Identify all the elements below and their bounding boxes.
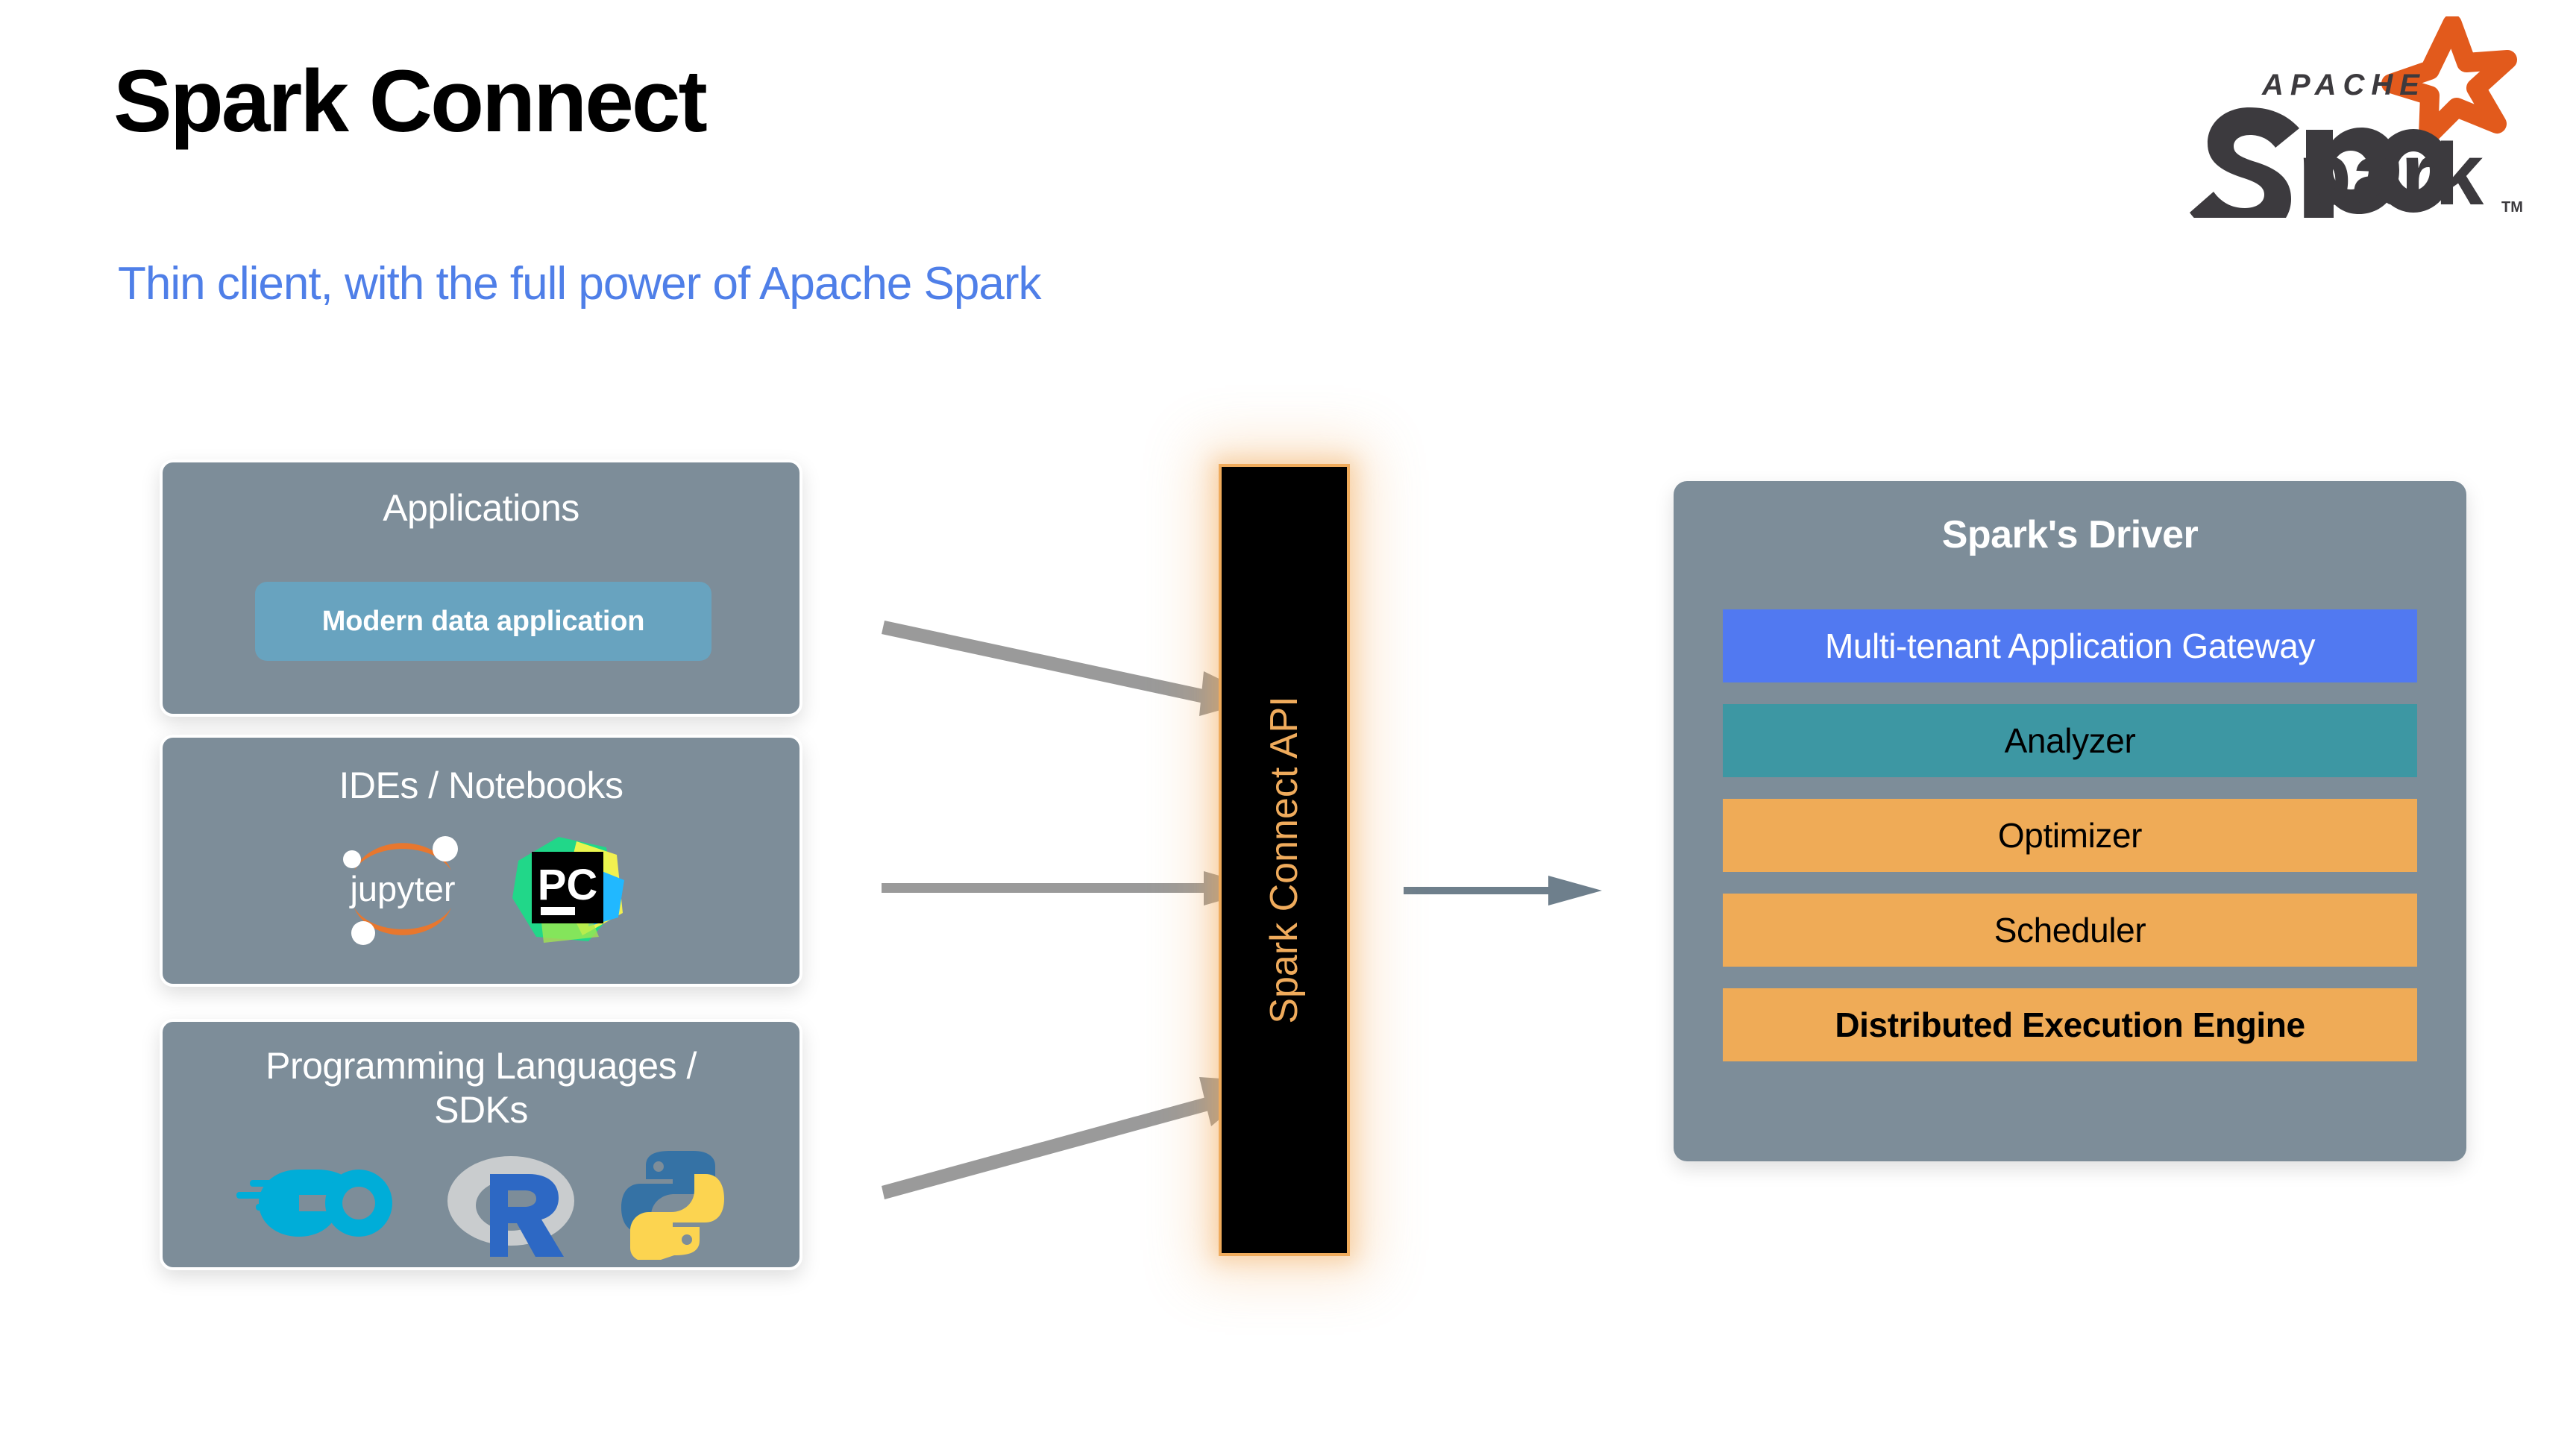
driver-row[interactable]: Optimizer [1723, 799, 2417, 872]
page-title: Spark Connect [113, 56, 706, 148]
ides-logo-row: jupyter PC [163, 824, 799, 951]
pycharm-logo: PC [505, 825, 630, 950]
modern-data-application-pill[interactable]: Modern data application [255, 582, 711, 661]
svg-text:TM: TM [2501, 199, 2523, 216]
svg-text:APACHE: APACHE [2261, 69, 2426, 101]
arrow-api-to-driver [1402, 858, 1626, 925]
slide-root: Spark Connect Thin client, with the full… [0, 0, 2576, 1447]
go-logo [233, 1155, 405, 1252]
driver-row[interactable]: Analyzer [1723, 704, 2417, 777]
card-title-line1: Programming Languages / [266, 1045, 697, 1087]
card-title-applications: Applications [163, 486, 799, 530]
card-title-ides-notebooks: IDEs / Notebooks [163, 764, 799, 807]
client-card-programming-languages[interactable]: Programming Languages / SDKs [160, 1019, 802, 1270]
spark-connect-api-label: Spark Connect API [1262, 696, 1307, 1023]
apache-spark-logo: APACHE park TM [2160, 16, 2533, 218]
pycharm-wordmark: PC [538, 861, 598, 909]
driver-component-list: Multi-tenant Application GatewayAnalyzer… [1723, 609, 2417, 1083]
svg-text:park: park [2298, 125, 2484, 218]
languages-logo-row [163, 1141, 799, 1264]
client-card-ides-notebooks[interactable]: IDEs / Notebooks jupyter PC [160, 735, 802, 987]
client-card-applications[interactable]: Applications Modern data application [160, 459, 802, 717]
driver-row[interactable]: Scheduler [1723, 894, 2417, 967]
spark-driver-title: Spark's Driver [1674, 512, 2466, 557]
driver-row[interactable]: Distributed Execution Engine [1723, 988, 2417, 1061]
spark-connect-api-bar[interactable]: Spark Connect API [1219, 464, 1350, 1256]
jupyter-logo: jupyter [332, 824, 474, 951]
python-logo [617, 1146, 729, 1260]
card-title-programming-languages: Programming Languages / SDKs [163, 1044, 799, 1132]
driver-row[interactable]: Multi-tenant Application Gateway [1723, 609, 2417, 682]
page-subtitle: Thin client, with the full power of Apac… [118, 257, 1040, 310]
r-logo [444, 1141, 578, 1264]
spark-driver-panel[interactable]: Spark's Driver Multi-tenant Application … [1674, 481, 2466, 1161]
jupyter-wordmark: jupyter [348, 869, 455, 908]
card-title-line2: SDKs [434, 1089, 528, 1131]
